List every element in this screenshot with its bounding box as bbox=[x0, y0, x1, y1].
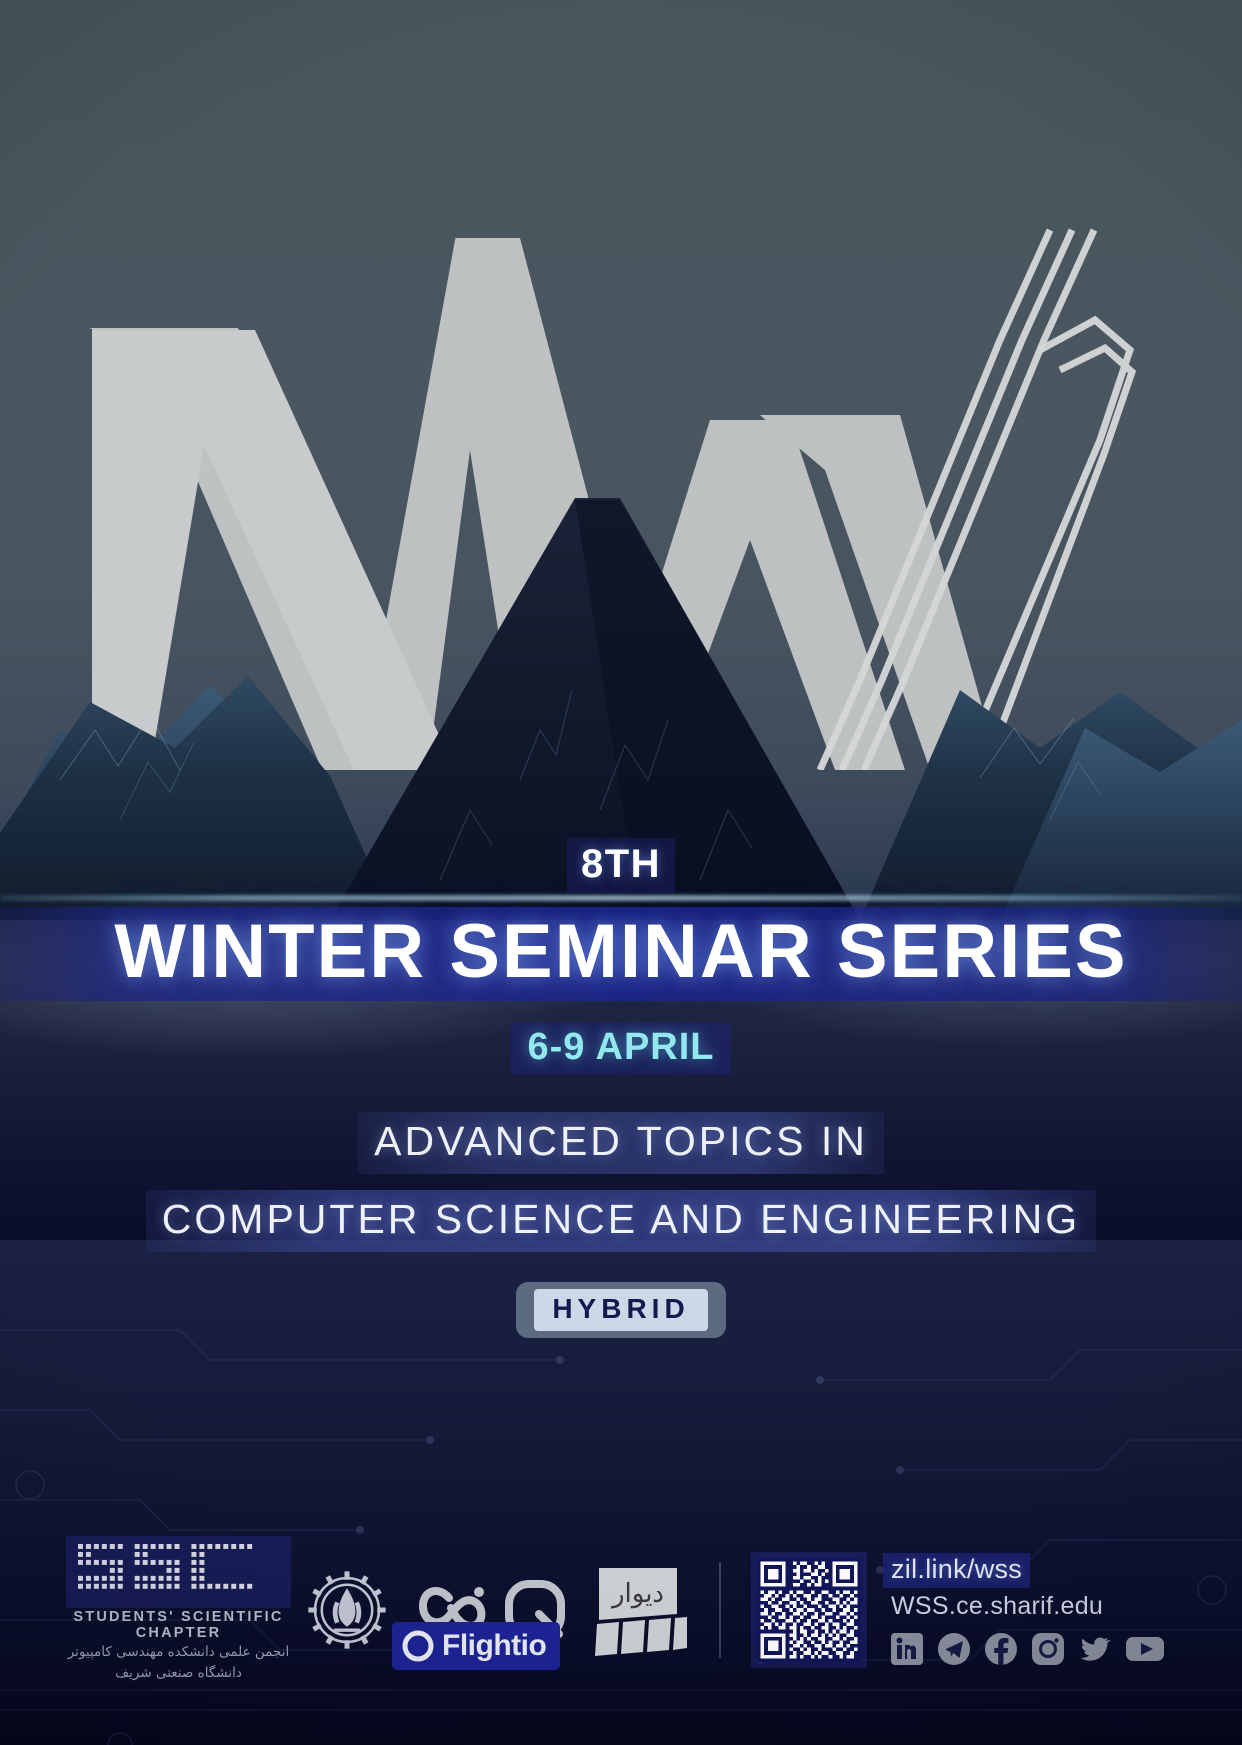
youtube-icon[interactable] bbox=[1124, 1631, 1166, 1667]
social-links bbox=[883, 1631, 1166, 1667]
subtitle-line-1: ADVANCED TOPICS IN bbox=[358, 1112, 884, 1174]
telegram-icon[interactable] bbox=[936, 1631, 972, 1667]
ssc-name-fa-2: دانشگاه صنعتی شریف bbox=[66, 1664, 291, 1684]
website-link[interactable]: WSS.ce.sharif.edu bbox=[883, 1591, 1166, 1623]
subtitle-line-2: COMPUTER SCIENCE AND ENGINEERING bbox=[146, 1190, 1096, 1252]
event-date: 6-9 APRIL bbox=[511, 1023, 730, 1074]
svg-text:دیوار: دیوار bbox=[610, 1579, 664, 1609]
ssc-logo: STUDENTS' SCIENTIFIC CHAPTER انجمن علمی … bbox=[66, 1536, 291, 1684]
subtitle-block: ADVANCED TOPICS IN COMPUTER SCIENCE AND … bbox=[0, 1112, 1242, 1338]
status-badge: HYBRID bbox=[534, 1289, 707, 1331]
ssc-name-fa-1: انجمن علمی دانشکده مهندسی کامپیوتر bbox=[66, 1643, 291, 1663]
linkedin-icon[interactable] bbox=[889, 1631, 925, 1667]
edition-label: 8TH bbox=[567, 838, 675, 893]
footer-contact: zil.link/wss WSS.ce.sharif.edu bbox=[721, 1552, 1166, 1668]
twitter-icon[interactable] bbox=[1077, 1631, 1113, 1667]
ssc-name-en: STUDENTS' SCIENTIFIC CHAPTER bbox=[66, 1609, 291, 1641]
divar-wall-icon: دیوار bbox=[583, 1562, 687, 1658]
qr-code[interactable] bbox=[751, 1552, 867, 1668]
flightio-label: Flightio bbox=[442, 1629, 546, 1663]
footer: STUDENTS' SCIENTIFIC CHAPTER انجمن علمی … bbox=[0, 1515, 1242, 1705]
page-title: WINTER SEMINAR SERIES bbox=[0, 913, 1242, 991]
ssc-dot-matrix-icon bbox=[66, 1536, 291, 1608]
instagram-icon[interactable] bbox=[1030, 1631, 1066, 1667]
short-link[interactable]: zil.link/wss bbox=[883, 1553, 1030, 1588]
event-poster: 8TH WINTER SEMINAR SERIES 6-9 APRIL ADVA… bbox=[0, 0, 1242, 1745]
sharif-gear-logo-icon bbox=[305, 1568, 389, 1652]
contact-links: zil.link/wss WSS.ce.sharif.edu bbox=[883, 1553, 1166, 1667]
title-block: 8TH WINTER SEMINAR SERIES 6-9 APRIL bbox=[0, 838, 1242, 1074]
flightio-ring-icon bbox=[401, 1629, 435, 1663]
main-title-band: WINTER SEMINAR SERIES bbox=[0, 907, 1242, 1001]
footer-organizers: STUDENTS' SCIENTIFIC CHAPTER انجمن علمی … bbox=[0, 1536, 721, 1684]
flightio-logo: Flightio bbox=[392, 1622, 560, 1670]
facebook-icon[interactable] bbox=[983, 1631, 1019, 1667]
format-badge-outer: HYBRID bbox=[516, 1282, 725, 1338]
